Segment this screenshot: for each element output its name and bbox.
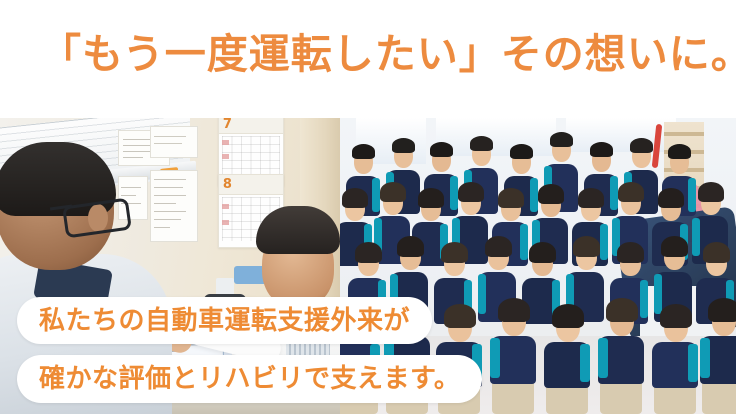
staff-person	[490, 298, 536, 414]
caption-text-2: 確かな評価とリハビリで支えます。	[39, 364, 460, 394]
staff-person	[652, 304, 698, 414]
page-title: 「もう一度運転したい」その想いに。	[40, 27, 736, 81]
staff-person	[544, 304, 590, 414]
promo-banner: 「もう一度運転したい」その想いに。	[0, 0, 736, 414]
caption-text-1: 私たちの自動車運転支援外来が	[39, 306, 410, 336]
caption-pill-2: 確かな評価とリハビリで支えます。	[17, 355, 482, 403]
staff-person	[598, 298, 644, 414]
doctor-hair	[256, 206, 340, 254]
caption-pill-1: 私たちの自動車運転支援外来が	[17, 297, 432, 344]
staff-person	[700, 298, 736, 414]
headline-band: 「もう一度運転したい」その想いに。	[0, 0, 736, 118]
